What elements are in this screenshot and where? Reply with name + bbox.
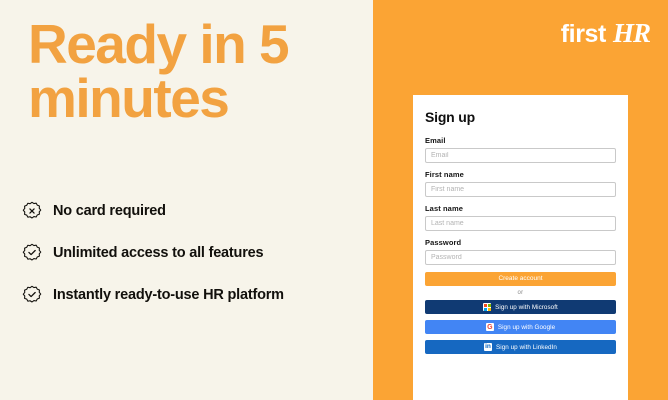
feature-list: No card required Unlimited access to all… bbox=[22, 198, 362, 324]
list-item: Unlimited access to all features bbox=[22, 240, 362, 266]
divider-or: or bbox=[425, 290, 616, 296]
email-field-group: Email bbox=[425, 136, 616, 163]
list-item: Instantly ready-to-use HR platform bbox=[22, 282, 362, 308]
list-item-label: No card required bbox=[53, 203, 166, 219]
signup-card: Sign up Email First name Last name Passw… bbox=[413, 95, 628, 400]
signup-with-google-label: Sign up with Google bbox=[498, 324, 555, 331]
rosette-check-icon bbox=[22, 243, 42, 263]
page-title: Ready in 5 minutes bbox=[28, 18, 358, 126]
email-input[interactable] bbox=[425, 148, 616, 163]
signup-title: Sign up bbox=[425, 109, 616, 125]
password-field-group: Password bbox=[425, 238, 616, 265]
logo-hr-text: HR bbox=[613, 18, 650, 49]
last-name-field-group: Last name bbox=[425, 204, 616, 231]
signup-with-linkedin-button[interactable]: in Sign up with LinkedIn bbox=[425, 340, 616, 354]
hero-panel: Ready in 5 minutes No card required bbox=[0, 0, 373, 400]
last-name-label: Last name bbox=[425, 204, 616, 213]
password-input[interactable] bbox=[425, 250, 616, 265]
list-item: No card required bbox=[22, 198, 362, 224]
first-name-label: First name bbox=[425, 170, 616, 179]
signup-with-google-button[interactable]: G Sign up with Google bbox=[425, 320, 616, 334]
first-name-input[interactable] bbox=[425, 182, 616, 197]
last-name-input[interactable] bbox=[425, 216, 616, 231]
rosette-check-icon bbox=[22, 285, 42, 305]
logo: first HR bbox=[561, 18, 650, 49]
signup-with-microsoft-label: Sign up with Microsoft bbox=[495, 304, 558, 311]
password-label: Password bbox=[425, 238, 616, 247]
list-item-label: Instantly ready-to-use HR platform bbox=[53, 287, 284, 303]
signup-with-linkedin-label: Sign up with LinkedIn bbox=[496, 344, 557, 351]
linkedin-icon: in bbox=[484, 343, 492, 351]
google-icon: G bbox=[486, 323, 494, 331]
signup-landing-screen: Ready in 5 minutes No card required bbox=[0, 0, 668, 400]
email-label: Email bbox=[425, 136, 616, 145]
logo-first-text: first bbox=[561, 20, 606, 49]
list-item-label: Unlimited access to all features bbox=[53, 245, 263, 261]
microsoft-icon bbox=[483, 303, 491, 311]
rosette-x-icon bbox=[22, 201, 42, 221]
first-name-field-group: First name bbox=[425, 170, 616, 197]
create-account-button[interactable]: Create account bbox=[425, 272, 616, 286]
signup-with-microsoft-button[interactable]: Sign up with Microsoft bbox=[425, 300, 616, 314]
